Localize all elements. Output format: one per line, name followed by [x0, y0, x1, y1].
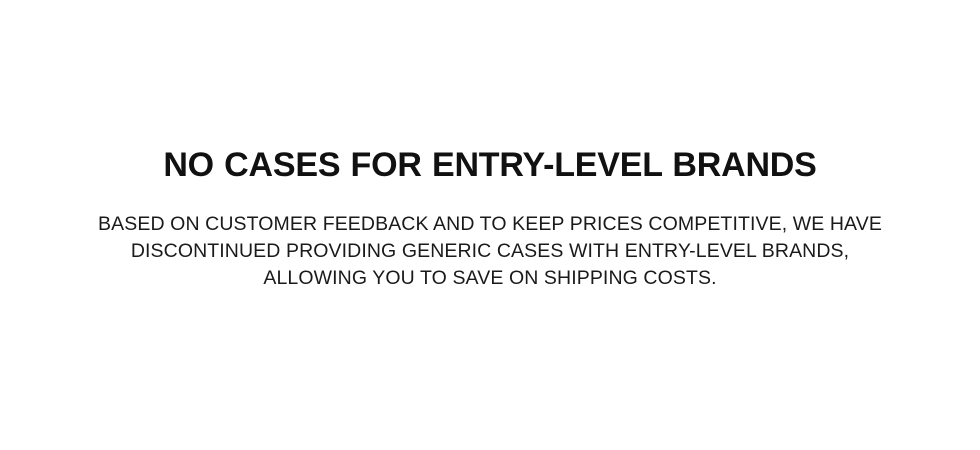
page-title: NO CASES FOR ENTRY-LEVEL BRANDS	[163, 146, 816, 184]
shipping-policy-notice-section: NO CASES FOR ENTRY-LEVEL BRANDS BASED ON…	[0, 0, 980, 450]
notice-body-text: BASED ON CUSTOMER FEEDBACK AND TO KEEP P…	[90, 211, 890, 292]
